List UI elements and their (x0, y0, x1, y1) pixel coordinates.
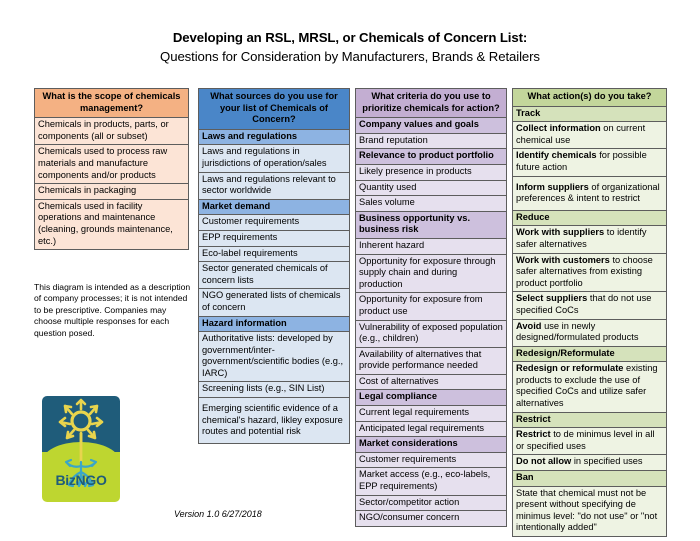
list-item: Current legal requirements (356, 406, 507, 422)
list-item: State that chemical must not be present … (513, 486, 667, 536)
list-item: Emerging scientific evidence of a chemic… (199, 398, 350, 444)
criteria-table: What criteria do you use to prioritize c… (355, 88, 507, 527)
table-row: Availability of alternatives that provid… (356, 347, 507, 374)
item-lead-text: Collect information (516, 123, 601, 133)
item-lead-text: Select suppliers (516, 293, 587, 303)
group-header-row: Business opportunity vs. business risk (356, 211, 507, 238)
list-item: Inherent hazard (356, 238, 507, 254)
group-label: Business opportunity vs. business risk (356, 211, 507, 238)
table-row: Redesign or reformulate existing product… (513, 362, 667, 412)
group-label: Relevance to product portfolio (356, 149, 507, 165)
table-row: Current legal requirements (356, 406, 507, 422)
table-row: Chemicals in packaging (35, 184, 189, 200)
page-title-line-1: Developing an RSL, MRSL, or Chemicals of… (0, 28, 700, 47)
table-row: Screening lists (e.g., SIN List) (199, 382, 350, 398)
table-row: Collect information on current chemical … (513, 122, 667, 149)
group-header-row: Relevance to product portfolio (356, 149, 507, 165)
list-item: Brand reputation (356, 133, 507, 149)
item-lead-text: Identify chemicals (516, 150, 597, 160)
group-header-row: Restrict (513, 412, 667, 428)
version-label: Version 1.0 6/27/2018 (174, 509, 262, 519)
list-item: Screening lists (e.g., SIN List) (199, 382, 350, 398)
table-row: Customer requirements (356, 452, 507, 468)
table-row: Sector/competitor action (356, 495, 507, 511)
column-header-scope: What is the scope of chemicals managemen… (35, 89, 189, 118)
scope-table-body: What is the scope of chemicals managemen… (35, 89, 189, 250)
list-item: Identify chemicals for possible future a… (513, 149, 667, 176)
list-item: NGO generated lists of chemicals of conc… (199, 289, 350, 316)
table-row: Work with customers to choose safer alte… (513, 253, 667, 292)
table-row: Do not allow in specified uses (513, 455, 667, 471)
list-item: Do not allow in specified uses (513, 455, 667, 471)
group-label: Restrict (513, 412, 667, 428)
table-row: Market access (e.g., eco-labels, EPP req… (356, 468, 507, 495)
list-item: Authoritative lists: developed by govern… (199, 332, 350, 382)
list-item: Chemicals used to process raw materials … (35, 145, 189, 184)
list-item: Chemicals in packaging (35, 184, 189, 200)
table-row: Eco-label requirements (199, 246, 350, 262)
group-label: Hazard information (199, 316, 350, 332)
item-lead-text: Do not allow (516, 456, 571, 466)
group-header-row: Market considerations (356, 437, 507, 453)
table-row: Laws and regulations in jurisdictions of… (199, 145, 350, 172)
group-header-row: Reduce (513, 210, 667, 226)
table-row: Sector generated chemicals of concern li… (199, 262, 350, 289)
list-item: Anticipated legal requirements (356, 421, 507, 437)
group-label: Legal compliance (356, 390, 507, 406)
table-row: Quantity used (356, 180, 507, 196)
table-row: Identify chemicals for possible future a… (513, 149, 667, 176)
column-header-sources: What sources do you use for your list of… (199, 89, 350, 130)
group-header-row: Redesign/Reformulate (513, 346, 667, 362)
group-label: Redesign/Reformulate (513, 346, 667, 362)
table-row: Chemicals used to process raw materials … (35, 145, 189, 184)
bizngo-logo: BizNGO (42, 396, 120, 502)
group-header-row: Hazard information (199, 316, 350, 332)
table-row: Authoritative lists: developed by govern… (199, 332, 350, 382)
group-label: Laws and regulations (199, 129, 350, 145)
list-item: Vulnerability of exposed population (e.g… (356, 320, 507, 347)
column-actions-to-take: What action(s) do you take?TrackCollect … (512, 88, 667, 537)
page-title-line-2: Questions for Consideration by Manufactu… (0, 47, 700, 66)
table-row: Cost of alternatives (356, 374, 507, 390)
list-item: Likely presence in products (356, 164, 507, 180)
list-item: Market access (e.g., eco-labels, EPP req… (356, 468, 507, 495)
group-label: Track (513, 106, 667, 122)
list-item: Laws and regulations relevant to sector … (199, 172, 350, 199)
table-row: Select suppliers that do not use specifi… (513, 292, 667, 319)
group-label: Ban (513, 471, 667, 487)
list-item: Collect information on current chemical … (513, 122, 667, 149)
item-body-text: in specified uses (571, 456, 642, 466)
list-item: Quantity used (356, 180, 507, 196)
table-row: NGO generated lists of chemicals of conc… (199, 289, 350, 316)
table-row: Opportunity for exposure from product us… (356, 293, 507, 320)
item-lead-text: Work with customers (516, 255, 610, 265)
table-row: Inherent hazard (356, 238, 507, 254)
list-item: NGO/consumer concern (356, 511, 507, 527)
group-header-row: Ban (513, 471, 667, 487)
table-header-row: What sources do you use for your list of… (199, 89, 350, 130)
list-item: Chemicals used in facility operations an… (35, 199, 189, 249)
explanatory-note: This diagram is intended as a descriptio… (34, 282, 194, 339)
group-header-row: Company values and goals (356, 118, 507, 134)
table-row: EPP requirements (199, 230, 350, 246)
table-header-row: What criteria do you use to prioritize c… (356, 89, 507, 118)
criteria-table-body: What criteria do you use to prioritize c… (356, 89, 507, 527)
group-label: Market considerations (356, 437, 507, 453)
table-row: Opportunity for exposure through supply … (356, 254, 507, 293)
list-item: Opportunity for exposure from product us… (356, 293, 507, 320)
table-row: Laws and regulations relevant to sector … (199, 172, 350, 199)
table-row: Customer requirements (199, 215, 350, 231)
column-scope-of-chemicals-management: What is the scope of chemicals managemen… (34, 88, 189, 250)
group-header-row: Market demand (199, 199, 350, 215)
item-lead-text: Work with suppliers (516, 227, 604, 237)
table-header-row: What is the scope of chemicals managemen… (35, 89, 189, 118)
list-item: Work with customers to choose safer alte… (513, 253, 667, 292)
table-row: Vulnerability of exposed population (e.g… (356, 320, 507, 347)
group-label: Market demand (199, 199, 350, 215)
table-row: NGO/consumer concern (356, 511, 507, 527)
list-item: Select suppliers that do not use specifi… (513, 292, 667, 319)
table-row: State that chemical must not be present … (513, 486, 667, 536)
item-lead-text: Inform suppliers (516, 182, 589, 192)
scope-table: What is the scope of chemicals managemen… (34, 88, 189, 250)
list-item: Avoid use in newly designed/formulated p… (513, 319, 667, 346)
table-row: Emerging scientific evidence of a chemic… (199, 398, 350, 444)
list-item: Work with suppliers to identify safer al… (513, 226, 667, 253)
table-row: Chemicals used in facility operations an… (35, 199, 189, 249)
list-item: EPP requirements (199, 230, 350, 246)
list-item: Customer requirements (199, 215, 350, 231)
actions-table-body: What action(s) do you take?TrackCollect … (513, 89, 667, 537)
list-item: Customer requirements (356, 452, 507, 468)
list-item: Availability of alternatives that provid… (356, 347, 507, 374)
list-item: Eco-label requirements (199, 246, 350, 262)
list-item: Sector/competitor action (356, 495, 507, 511)
list-item: Sector generated chemicals of concern li… (199, 262, 350, 289)
table-row: Inform suppliers of organizational prefe… (513, 176, 667, 210)
sources-table: What sources do you use for your list of… (198, 88, 350, 444)
list-item: Inform suppliers of organizational prefe… (513, 176, 667, 210)
list-item: Sales volume (356, 196, 507, 212)
column-prioritization-criteria: What criteria do you use to prioritize c… (355, 88, 507, 527)
table-row: Likely presence in products (356, 164, 507, 180)
table-row: Anticipated legal requirements (356, 421, 507, 437)
list-item: Opportunity for exposure through supply … (356, 254, 507, 293)
page-title: Developing an RSL, MRSL, or Chemicals of… (0, 28, 700, 66)
group-header-row: Track (513, 106, 667, 122)
table-row: Sales volume (356, 196, 507, 212)
logo-wordmark: BizNGO (42, 472, 120, 488)
table-row: Restrict to de minimus level in all or s… (513, 428, 667, 455)
list-item: Cost of alternatives (356, 374, 507, 390)
item-lead-text: Redesign or reformulate (516, 363, 623, 373)
table-row: Chemicals in products, parts, or compone… (35, 118, 189, 145)
list-item: Chemicals in products, parts, or compone… (35, 118, 189, 145)
sources-table-body: What sources do you use for your list of… (199, 89, 350, 444)
column-header-actions: What action(s) do you take? (513, 89, 667, 107)
table-row: Brand reputation (356, 133, 507, 149)
group-label: Reduce (513, 210, 667, 226)
list-item: Redesign or reformulate existing product… (513, 362, 667, 412)
list-item: Restrict to de minimus level in all or s… (513, 428, 667, 455)
table-row: Avoid use in newly designed/formulated p… (513, 319, 667, 346)
actions-table: What action(s) do you take?TrackCollect … (512, 88, 667, 537)
group-header-row: Legal compliance (356, 390, 507, 406)
table-header-row: What action(s) do you take? (513, 89, 667, 107)
list-item: Laws and regulations in jurisdictions of… (199, 145, 350, 172)
group-label: Company values and goals (356, 118, 507, 134)
column-sources-for-coc-list: What sources do you use for your list of… (198, 88, 350, 444)
table-row: Work with suppliers to identify safer al… (513, 226, 667, 253)
item-lead-text: Restrict (516, 429, 551, 439)
group-header-row: Laws and regulations (199, 129, 350, 145)
column-header-criteria: What criteria do you use to prioritize c… (356, 89, 507, 118)
item-lead-text: Avoid (516, 321, 541, 331)
